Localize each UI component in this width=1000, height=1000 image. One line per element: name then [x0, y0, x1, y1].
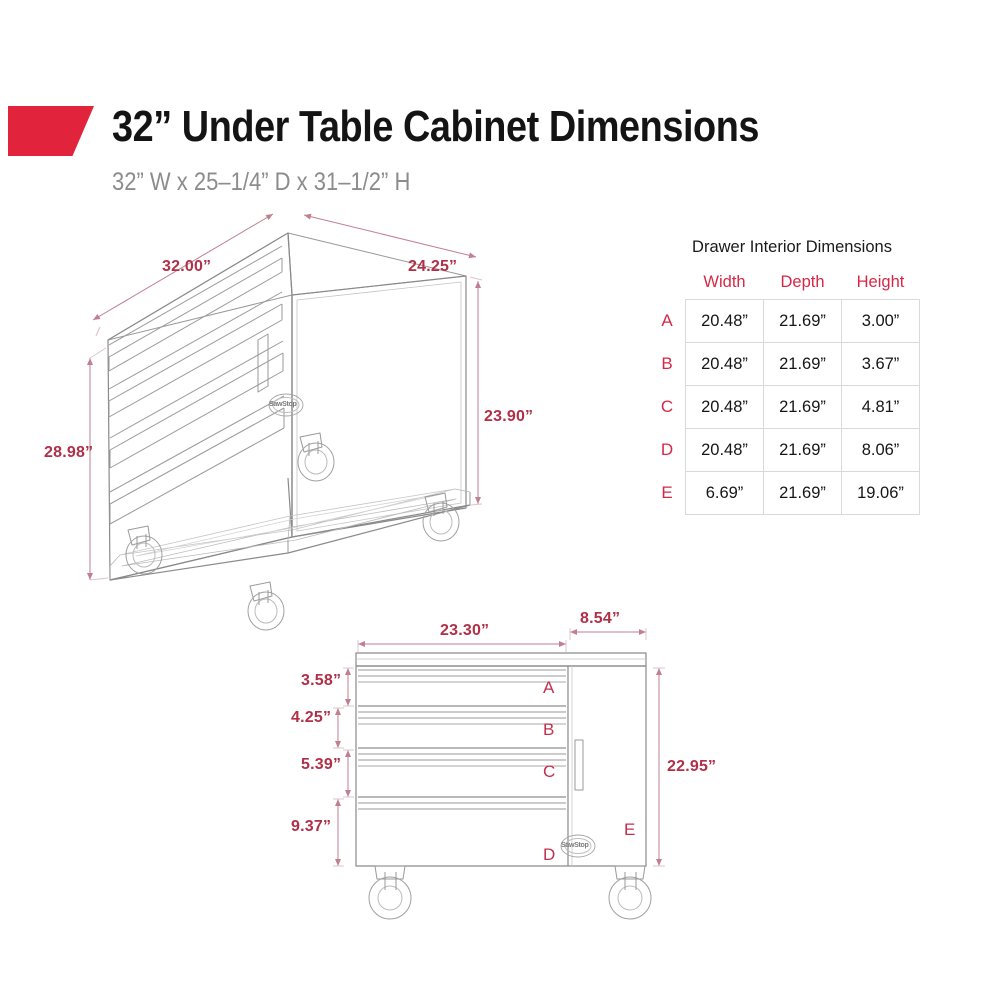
- row-label-d: D: [654, 429, 686, 472]
- front-dim-drawer-b: 4.25”: [291, 709, 331, 727]
- table-title: Drawer Interior Dimensions: [654, 238, 930, 257]
- front-label-drawer-b: B: [543, 720, 554, 740]
- row-label-e: E: [654, 472, 686, 515]
- front-dim-compartment-width: 8.54”: [580, 610, 620, 628]
- iso-dim-depth: 24.25”: [408, 258, 457, 276]
- column-header-depth: Depth: [764, 273, 842, 300]
- cell-d-depth: 21.69”: [764, 429, 842, 472]
- cell-b-depth: 21.69”: [764, 343, 842, 386]
- cell-c-depth: 21.69”: [764, 386, 842, 429]
- cell-b-width: 20.48”: [686, 343, 764, 386]
- table-header-row: Width Depth Height: [654, 273, 920, 300]
- front-dim-drawer-a: 3.58”: [301, 672, 341, 690]
- cell-e-height: 19.06”: [842, 472, 920, 515]
- front-label-compartment-e: E: [624, 820, 635, 840]
- red-accent-flag: [8, 106, 94, 156]
- row-label-b: B: [654, 343, 686, 386]
- front-label-drawer-c: C: [543, 762, 555, 782]
- cell-c-height: 4.81”: [842, 386, 920, 429]
- page-subtitle: 32” W x 25–1/4” D x 31–1/2” H: [112, 166, 410, 198]
- sawstop-logo-front: SawStop: [561, 842, 588, 849]
- front-dim-drawer-c: 5.39”: [301, 756, 341, 774]
- front-label-drawer-d: D: [543, 845, 555, 865]
- cell-a-width: 20.48”: [686, 300, 764, 343]
- iso-dim-height-right: 23.90”: [484, 408, 533, 426]
- cell-a-height: 3.00”: [842, 300, 920, 343]
- front-dim-drawer-d: 9.37”: [291, 818, 331, 836]
- diagram-page: 32” Under Table Cabinet Dimensions 32” W…: [0, 0, 1000, 1000]
- table-row: A 20.48” 21.69” 3.00”: [654, 300, 920, 343]
- row-label-a: A: [654, 300, 686, 343]
- table-row: D 20.48” 21.69” 8.06”: [654, 429, 920, 472]
- front-dim-drawer-width: 23.30”: [440, 622, 489, 640]
- cell-b-height: 3.67”: [842, 343, 920, 386]
- front-dim-overall-height: 22.95”: [667, 758, 716, 776]
- column-header-width: Width: [686, 273, 764, 300]
- column-header-height: Height: [842, 273, 920, 300]
- front-label-drawer-a: A: [543, 678, 554, 698]
- sawstop-logo-isometric: SawStop: [269, 401, 296, 408]
- iso-dim-width: 32.00”: [162, 258, 211, 276]
- cell-d-height: 8.06”: [842, 429, 920, 472]
- cell-a-depth: 21.69”: [764, 300, 842, 343]
- iso-dim-height-left: 28.98”: [44, 444, 93, 462]
- table-row: C 20.48” 21.69” 4.81”: [654, 386, 920, 429]
- drawer-dimensions-table-section: Drawer Interior Dimensions Width Depth H…: [640, 238, 930, 515]
- table-row: B 20.48” 21.69” 3.67”: [654, 343, 920, 386]
- cell-c-width: 20.48”: [686, 386, 764, 429]
- table-row: E 6.69” 21.69” 19.06”: [654, 472, 920, 515]
- cell-e-width: 6.69”: [686, 472, 764, 515]
- cell-d-width: 20.48”: [686, 429, 764, 472]
- drawer-dimensions-table: Width Depth Height A 20.48” 21.69” 3.00”…: [654, 273, 920, 515]
- table-corner-cell: [654, 273, 686, 300]
- cell-e-depth: 21.69”: [764, 472, 842, 515]
- page-title: 32” Under Table Cabinet Dimensions: [112, 100, 759, 154]
- row-label-c: C: [654, 386, 686, 429]
